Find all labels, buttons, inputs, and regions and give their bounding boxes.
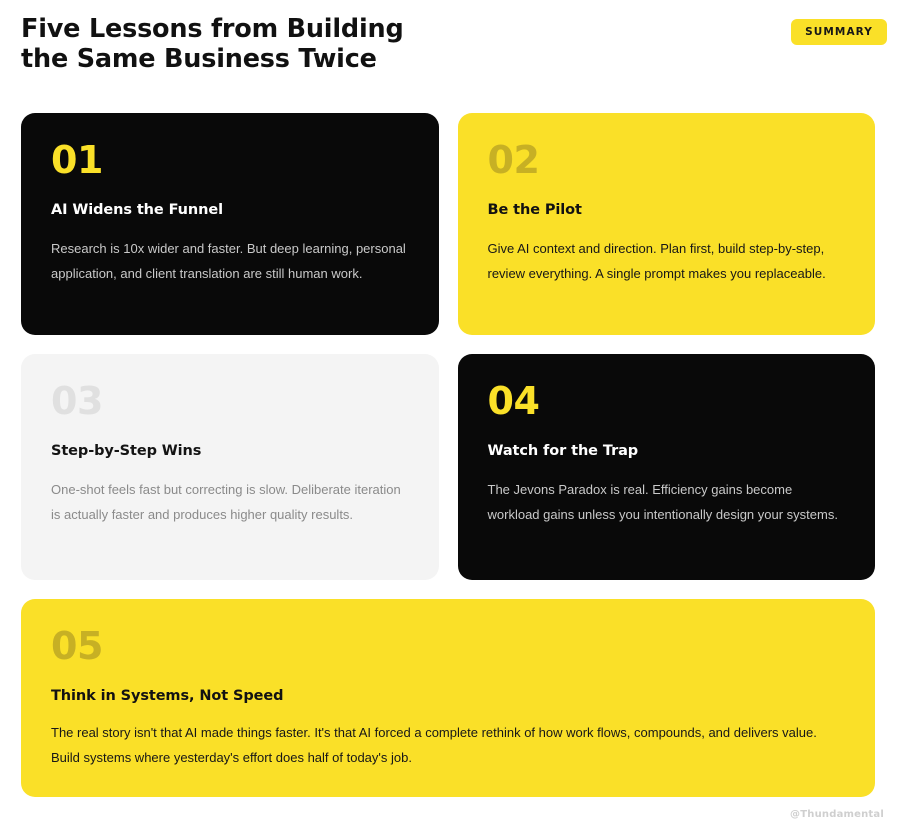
lesson-number: 01 bbox=[51, 141, 409, 179]
lesson-body: The real story isn't that AI made things… bbox=[51, 720, 845, 770]
lesson-card-03[interactable]: 03 Step-by-Step Wins One-shot feels fast… bbox=[21, 354, 439, 580]
lesson-title: Be the Pilot bbox=[488, 201, 846, 219]
lesson-number: 05 bbox=[51, 627, 845, 665]
lesson-card-04[interactable]: 04 Watch for the Trap The Jevons Paradox… bbox=[458, 354, 876, 580]
lesson-body: Research is 10x wider and faster. But de… bbox=[51, 236, 409, 286]
lesson-body: The Jevons Paradox is real. Efficiency g… bbox=[488, 477, 846, 527]
summary-card-page: Five Lessons from Building the Same Busi… bbox=[0, 0, 908, 828]
lesson-card-02[interactable]: 02 Be the Pilot Give AI context and dire… bbox=[458, 113, 876, 335]
lesson-title: Think in Systems, Not Speed bbox=[51, 687, 845, 705]
lesson-title: AI Widens the Funnel bbox=[51, 201, 409, 219]
lesson-card-grid: 01 AI Widens the Funnel Research is 10x … bbox=[21, 113, 875, 797]
lesson-card-01[interactable]: 01 AI Widens the Funnel Research is 10x … bbox=[21, 113, 439, 335]
lesson-number: 04 bbox=[488, 382, 846, 420]
page-header: Five Lessons from Building the Same Busi… bbox=[0, 0, 908, 74]
watermark: @Thundamental bbox=[790, 809, 884, 820]
lesson-body: One-shot feels fast but correcting is sl… bbox=[51, 477, 409, 527]
lesson-body: Give AI context and direction. Plan firs… bbox=[488, 236, 846, 286]
page-title: Five Lessons from Building the Same Busi… bbox=[21, 14, 404, 74]
lesson-card-05[interactable]: 05 Think in Systems, Not Speed The real … bbox=[21, 599, 875, 797]
lesson-title: Watch for the Trap bbox=[488, 442, 846, 460]
lesson-title: Step-by-Step Wins bbox=[51, 442, 409, 460]
lesson-number: 03 bbox=[51, 382, 409, 420]
status-badge: SUMMARY bbox=[791, 19, 887, 45]
lesson-number: 02 bbox=[488, 141, 846, 179]
